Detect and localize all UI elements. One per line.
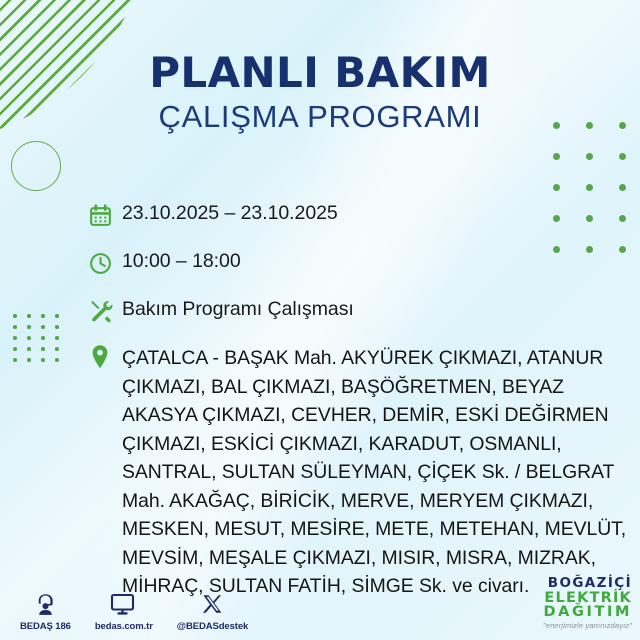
decor-dot — [55, 358, 59, 362]
x-twitter-icon — [201, 591, 225, 617]
monitor-icon — [110, 591, 138, 617]
footer-item-phone-label: BEDAŞ 186 — [20, 621, 71, 632]
info-row-address: ÇATALCA - BAŞAK Mah. AKYÜREK ÇIKMAZI, AT… — [88, 344, 640, 601]
page-title: PLANLI BAKIM — [0, 52, 640, 95]
decor-dot — [55, 325, 59, 329]
decor-dot — [619, 153, 626, 160]
decor-dot — [27, 314, 31, 318]
support-headset-icon — [33, 591, 58, 617]
dot-grid-left-decor — [13, 314, 69, 369]
page-footer: BEDAŞ 186 bedas.com.tr @BEDASdestek BOĞA… — [0, 578, 640, 640]
footer-item-social-label: @BEDASdestek — [177, 621, 248, 632]
page-header: PLANLI BAKIM ÇALIŞMA PROGRAMI — [0, 52, 640, 137]
decor-dot — [13, 347, 17, 351]
bedas-logo: BOĞAZİÇİ ELEKTRİK DAĞITIM "enerjimizle y… — [543, 577, 632, 630]
footer-contact-list: BEDAŞ 186 bedas.com.tr @BEDASdestek — [20, 591, 248, 632]
info-row-date: 23.10.2025 – 23.10.2025 — [88, 200, 640, 230]
decor-dot — [55, 347, 59, 351]
logo-line-bogazici: BOĞAZİÇİ — [543, 577, 632, 591]
decor-dot — [41, 347, 45, 351]
location-pin-icon — [88, 344, 122, 370]
logo-line-dagitim: DAĞITIM — [543, 605, 632, 620]
decor-dot — [553, 184, 560, 191]
decor-dot — [41, 314, 45, 318]
decor-dot — [41, 358, 45, 362]
logo-tagline: "enerjimizle yanınızdayız" — [543, 622, 632, 630]
decor-dot — [619, 184, 626, 191]
date-range-value: 23.10.2025 – 23.10.2025 — [122, 200, 338, 228]
circle-outline-decor — [11, 141, 61, 191]
footer-item-phone[interactable]: BEDAŞ 186 — [20, 591, 71, 632]
footer-item-website-label: bedas.com.tr — [95, 621, 153, 632]
decor-dot — [13, 314, 17, 318]
info-row-time: 10:00 – 18:00 — [88, 248, 640, 278]
decor-dot — [41, 336, 45, 340]
clock-icon — [88, 248, 122, 278]
decor-dot — [27, 358, 31, 362]
decor-dot — [55, 314, 59, 318]
decor-dot — [586, 153, 593, 160]
tools-icon — [88, 296, 122, 326]
calendar-icon — [88, 200, 122, 230]
decor-dot — [13, 336, 17, 340]
decor-dot — [41, 325, 45, 329]
address-value: ÇATALCA - BAŞAK Mah. AKYÜREK ÇIKMAZI, AT… — [122, 344, 640, 601]
decor-dot — [13, 325, 17, 329]
decor-dot — [55, 336, 59, 340]
decor-dot — [13, 358, 17, 362]
footer-item-social[interactable]: @BEDASdestek — [177, 591, 248, 632]
decor-dot — [27, 336, 31, 340]
decor-dot — [27, 347, 31, 351]
work-type-value: Bakım Programı Çalışması — [122, 296, 354, 324]
decor-dot — [553, 153, 560, 160]
info-row-work-type: Bakım Programı Çalışması — [88, 296, 640, 326]
decor-dot — [586, 184, 593, 191]
info-list: 23.10.2025 – 23.10.2025 10:00 – 18:00 Ba… — [88, 200, 640, 601]
footer-item-website[interactable]: bedas.com.tr — [95, 591, 153, 632]
page-subtitle: ÇALIŞMA PROGRAMI — [0, 98, 640, 137]
time-range-value: 10:00 – 18:00 — [122, 248, 241, 276]
decor-dot — [27, 325, 31, 329]
